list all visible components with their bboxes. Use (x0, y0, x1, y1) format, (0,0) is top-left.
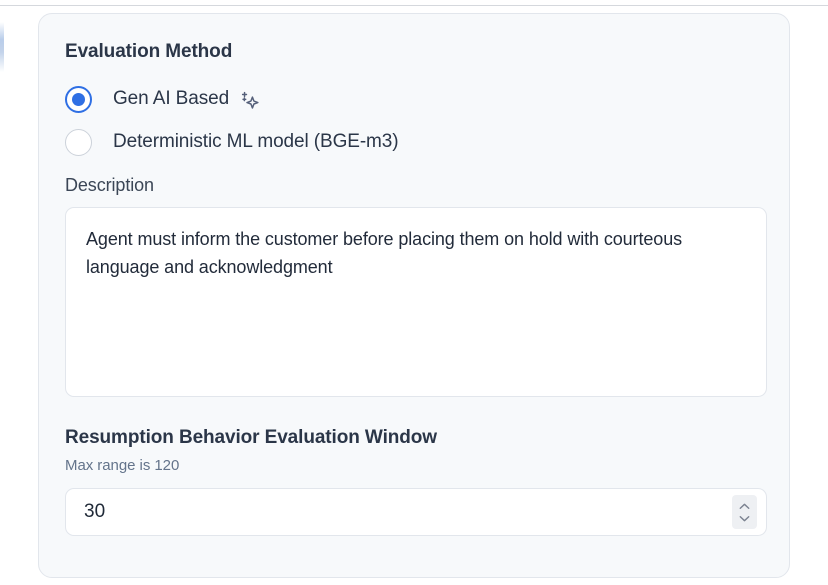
top-divider (0, 5, 828, 6)
evaluation-method-radio-group: Gen AI Based Deterministic ML model (BGE… (65, 82, 763, 159)
evaluation-window-field[interactable]: 30 (65, 488, 767, 536)
radio-option-gen-ai[interactable]: Gen AI Based (65, 82, 763, 116)
chevron-up-icon (739, 503, 750, 510)
description-input[interactable]: Agent must inform the customer before pl… (65, 207, 767, 397)
radio-label-gen-ai: Gen AI Based (113, 88, 229, 110)
page-title: Evaluation Method (65, 40, 763, 64)
evaluation-window-input[interactable]: 30 (66, 501, 105, 523)
radio-indicator-unselected[interactable] (65, 129, 92, 156)
description-label: Description (65, 175, 763, 196)
quantity-stepper[interactable] (732, 495, 757, 529)
radio-option-deterministic[interactable]: Deterministic ML model (BGE-m3) (65, 125, 763, 159)
chevron-down-icon (739, 515, 750, 522)
evaluation-settings-card: Evaluation Method Gen AI Based Determini… (38, 13, 790, 578)
radio-indicator-selected[interactable] (65, 86, 92, 113)
sparkles-icon (240, 90, 261, 111)
radio-label-deterministic: Deterministic ML model (BGE-m3) (113, 131, 398, 153)
evaluation-window-hint: Max range is 120 (65, 457, 763, 474)
radio-dot (72, 93, 85, 106)
evaluation-window-section: Resumption Behavior Evaluation Window Ma… (65, 427, 763, 536)
evaluation-window-title: Resumption Behavior Evaluation Window (65, 427, 763, 449)
left-gutter (4, 6, 38, 585)
